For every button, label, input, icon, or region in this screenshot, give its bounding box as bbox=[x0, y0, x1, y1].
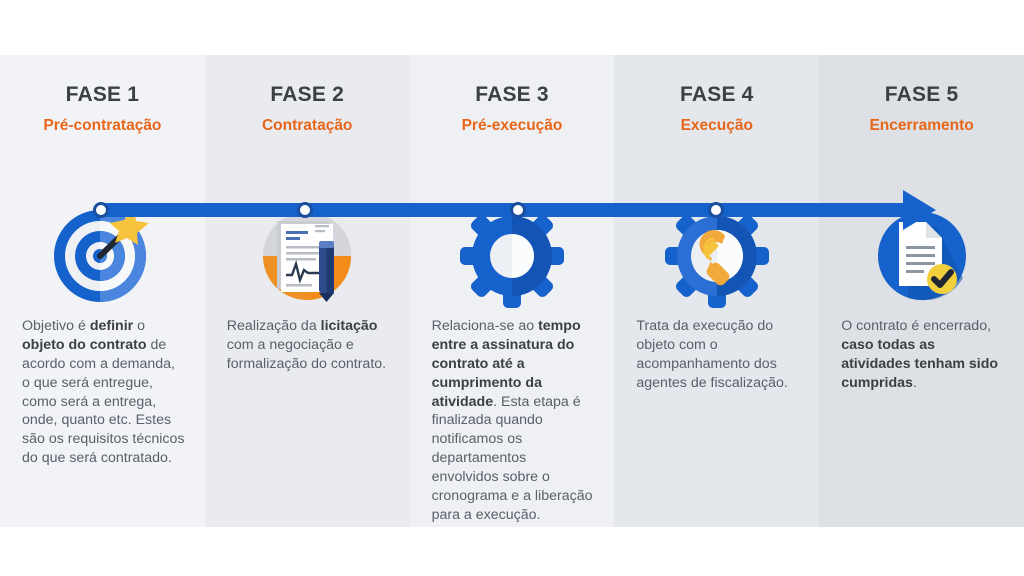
phase-subtitle: Pré-execução bbox=[410, 117, 615, 135]
phase-description: Objetivo é definir o objeto do contrato … bbox=[22, 317, 185, 468]
phase-description: O contrato é encerrado, caso todas as at… bbox=[841, 317, 1004, 393]
phase-column-5: FASE 5 Encerramento O contrato é encerra… bbox=[819, 55, 1024, 527]
phase-title: FASE 1 bbox=[0, 83, 205, 107]
phase-subtitle: Contratação bbox=[205, 117, 410, 135]
phase-title: FASE 4 bbox=[614, 83, 819, 107]
document-pen-icon bbox=[253, 200, 361, 308]
gear-wrench-icon bbox=[663, 200, 771, 308]
phases-infographic: FASE 1 Pré-contratação Objetivo é defini… bbox=[0, 55, 1024, 527]
phase-icon-container bbox=[819, 200, 1024, 308]
phase-title: FASE 2 bbox=[205, 83, 410, 107]
phase-description: Realização da licitação com a negociação… bbox=[227, 317, 390, 374]
phase-icon-container bbox=[0, 200, 205, 308]
phase-subtitle: Pré-contratação bbox=[0, 117, 205, 135]
phase-title: FASE 5 bbox=[819, 83, 1024, 107]
phase-icon-container bbox=[205, 200, 410, 308]
phase-icon-container bbox=[410, 200, 615, 308]
phase-column-4: FASE 4 Execução bbox=[614, 55, 819, 527]
gear-icon bbox=[458, 200, 566, 308]
phase-icon-container bbox=[614, 200, 819, 308]
phase-column-1: FASE 1 Pré-contratação Objetivo é defini… bbox=[0, 55, 205, 527]
target-dart-icon bbox=[48, 200, 156, 308]
phase-title: FASE 3 bbox=[410, 83, 615, 107]
phase-column-2: FASE 2 Contratação bbox=[205, 55, 410, 527]
phase-subtitle: Execução bbox=[614, 117, 819, 135]
document-check-icon bbox=[868, 200, 976, 308]
phase-description: Relaciona-se ao tempo entre a assinatura… bbox=[432, 317, 595, 525]
phase-description: Trata da execução do objeto com o acompa… bbox=[636, 317, 799, 393]
phase-subtitle: Encerramento bbox=[819, 117, 1024, 135]
phase-column-3: FASE 3 Pré-execução bbox=[410, 55, 615, 527]
